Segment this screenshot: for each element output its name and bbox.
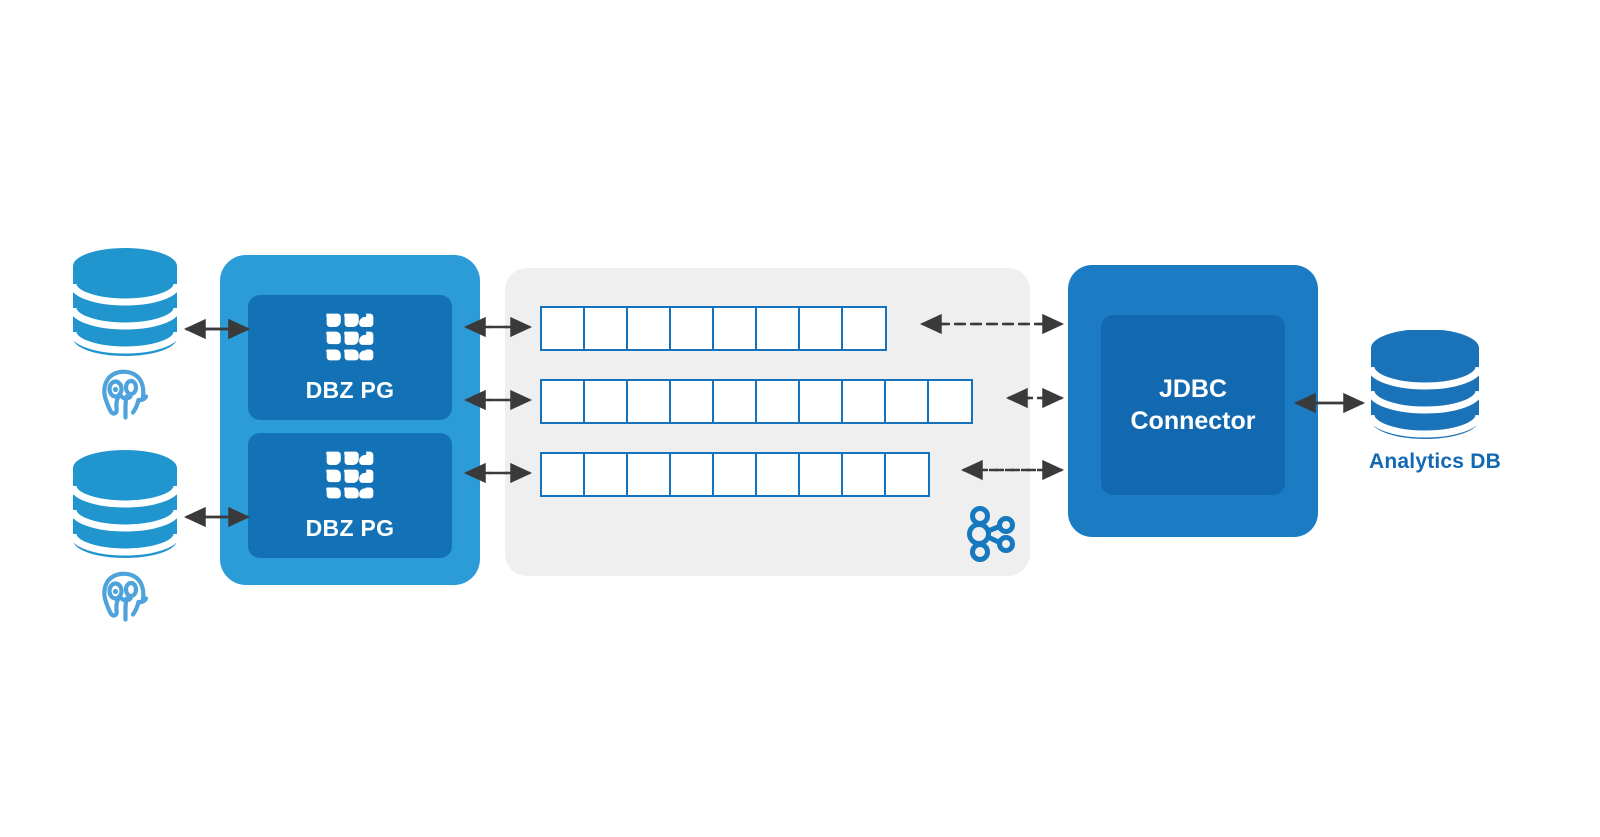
kafka-message-cell <box>540 306 586 351</box>
kafka-message-cell <box>798 306 844 351</box>
kafka-topic-row-2[interactable] <box>540 379 973 424</box>
kafka-message-cell <box>755 306 801 351</box>
analytics-db-label: Analytics DB <box>1340 450 1530 474</box>
diagram-canvas: DBZ PG DBZ <box>0 0 1600 837</box>
kafka-topic-row-3[interactable] <box>540 452 930 497</box>
kafka-message-cell <box>712 379 758 424</box>
kafka-message-cell <box>841 306 887 351</box>
debezium-connectors-group: DBZ PG DBZ <box>220 255 480 585</box>
jdbc-connector-block[interactable]: JDBC Connector <box>1068 265 1318 537</box>
dbz-pg-connector-2[interactable]: DBZ PG <box>248 433 452 558</box>
kafka-message-cell <box>712 452 758 497</box>
kafka-message-cell <box>841 379 887 424</box>
postgresql-elephant-icon-1 <box>97 366 155 427</box>
kafka-message-cell <box>626 306 672 351</box>
jdbc-connector-inner: JDBC Connector <box>1101 315 1285 495</box>
kafka-message-cell <box>626 379 672 424</box>
kafka-message-cell <box>712 306 758 351</box>
jdbc-connector-label-line1: JDBC <box>1159 375 1227 403</box>
source-database-1-icon[interactable] <box>73 248 177 361</box>
kafka-message-cell <box>583 452 629 497</box>
kafka-message-cell <box>669 452 715 497</box>
kafka-message-cell <box>884 452 930 497</box>
analytics-database-icon[interactable] <box>1371 330 1479 445</box>
kafka-message-cell <box>927 379 973 424</box>
jdbc-connector-label-line2: Connector <box>1131 407 1256 435</box>
kafka-message-cell <box>669 379 715 424</box>
kafka-message-cell <box>583 306 629 351</box>
debezium-logo-icon-2 <box>325 450 375 505</box>
kafka-topic-row-1[interactable] <box>540 306 887 351</box>
dbz-pg-connector-1[interactable]: DBZ PG <box>248 295 452 420</box>
kafka-message-cell <box>798 452 844 497</box>
debezium-logo-icon-1 <box>325 312 375 367</box>
dbz-pg-connector-1-label: DBZ PG <box>306 377 395 404</box>
kafka-message-cell <box>626 452 672 497</box>
source-database-2-icon[interactable] <box>73 450 177 563</box>
kafka-logo-icon <box>962 502 1022 571</box>
kafka-message-cell <box>884 379 930 424</box>
jdbc-connector-label: JDBC Connector <box>1131 373 1256 437</box>
dbz-pg-connector-2-label: DBZ PG <box>306 515 395 542</box>
kafka-message-cell <box>540 379 586 424</box>
kafka-message-cell <box>841 452 887 497</box>
kafka-message-cell <box>669 306 715 351</box>
kafka-message-cell <box>755 379 801 424</box>
kafka-message-cell <box>583 379 629 424</box>
kafka-message-cell <box>755 452 801 497</box>
kafka-message-cell <box>798 379 844 424</box>
kafka-message-cell <box>540 452 586 497</box>
postgresql-elephant-icon-2 <box>97 568 155 629</box>
